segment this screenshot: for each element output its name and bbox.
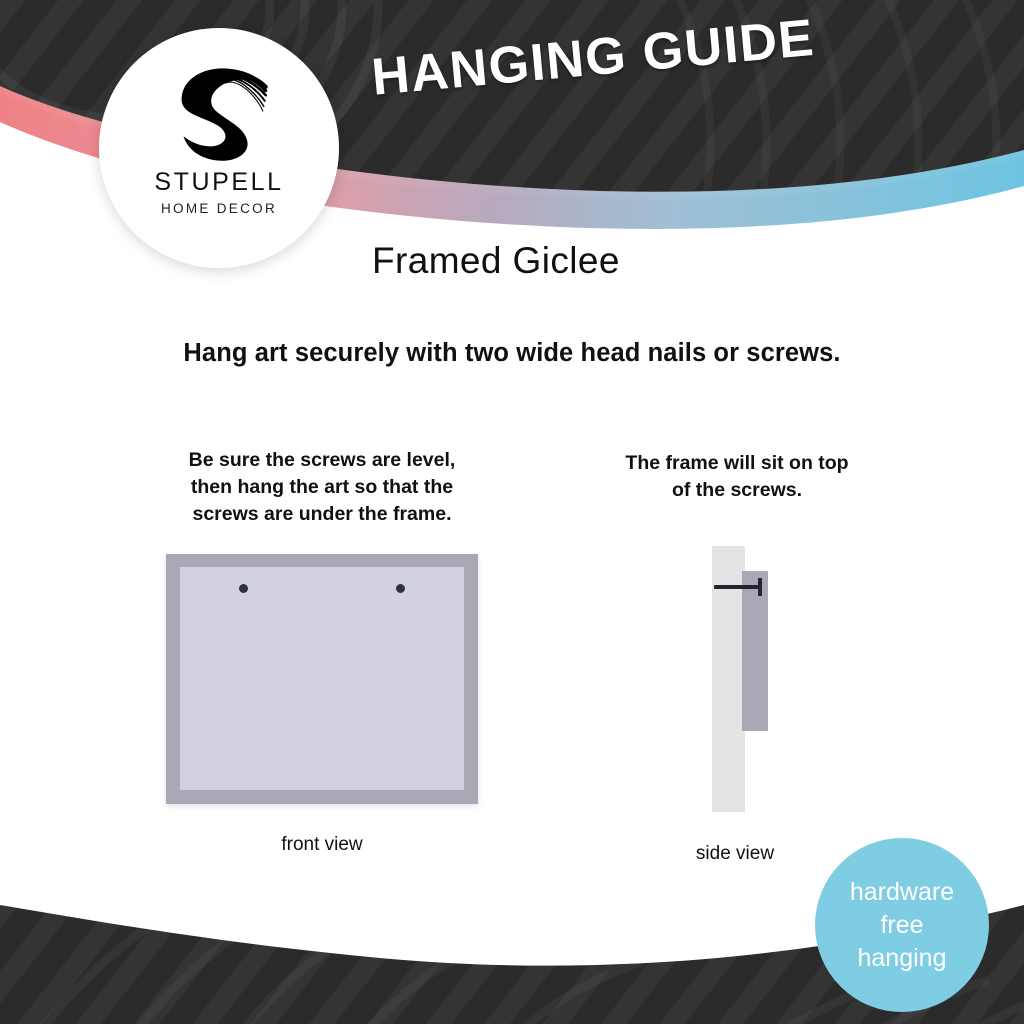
page-title: HANGING GUIDE <box>369 8 817 108</box>
nail-head-icon <box>758 578 762 596</box>
side-view-caption: The frame will sit on top of the screws. <box>592 450 882 504</box>
frame-side-profile <box>742 571 768 731</box>
side-view-diagram <box>700 540 810 820</box>
brand-name: STUPELL <box>154 170 283 195</box>
front-view-caption: Be sure the screws are level, then hang … <box>137 447 507 528</box>
product-name: Framed Giclee <box>372 240 620 282</box>
hanging-guide-infographic: STUPELL HOME DECOR HANGING GUIDE Framed … <box>0 0 1024 1024</box>
stupell-swoosh-logo-icon <box>163 56 275 168</box>
screw-dot-left <box>239 584 248 593</box>
badge-line-3: hanging <box>858 942 947 975</box>
hardware-free-hanging-badge: hardware free hanging <box>815 838 989 1012</box>
side-caption-line-1: The frame will sit on top <box>592 450 882 477</box>
badge-line-2: free <box>880 909 923 942</box>
side-caption-line-2: of the screws. <box>592 477 882 504</box>
nail-side-profile-icon <box>714 585 762 589</box>
picture-frame-panel <box>180 567 464 790</box>
front-caption-line-1: Be sure the screws are level, <box>137 447 507 474</box>
badge-line-1: hardware <box>850 876 954 909</box>
front-view-diagram <box>166 554 478 804</box>
main-instruction-text: Hang art securely with two wide head nai… <box>0 339 1024 368</box>
front-caption-line-3: screws are under the frame. <box>137 501 507 528</box>
side-view-label: side view <box>655 843 815 865</box>
screw-dot-right <box>396 584 405 593</box>
front-caption-line-2: then hang the art so that the <box>137 474 507 501</box>
brand-logo-badge: STUPELL HOME DECOR <box>99 28 339 268</box>
brand-tagline: HOME DECOR <box>161 202 277 216</box>
front-view-label: front view <box>166 834 478 856</box>
